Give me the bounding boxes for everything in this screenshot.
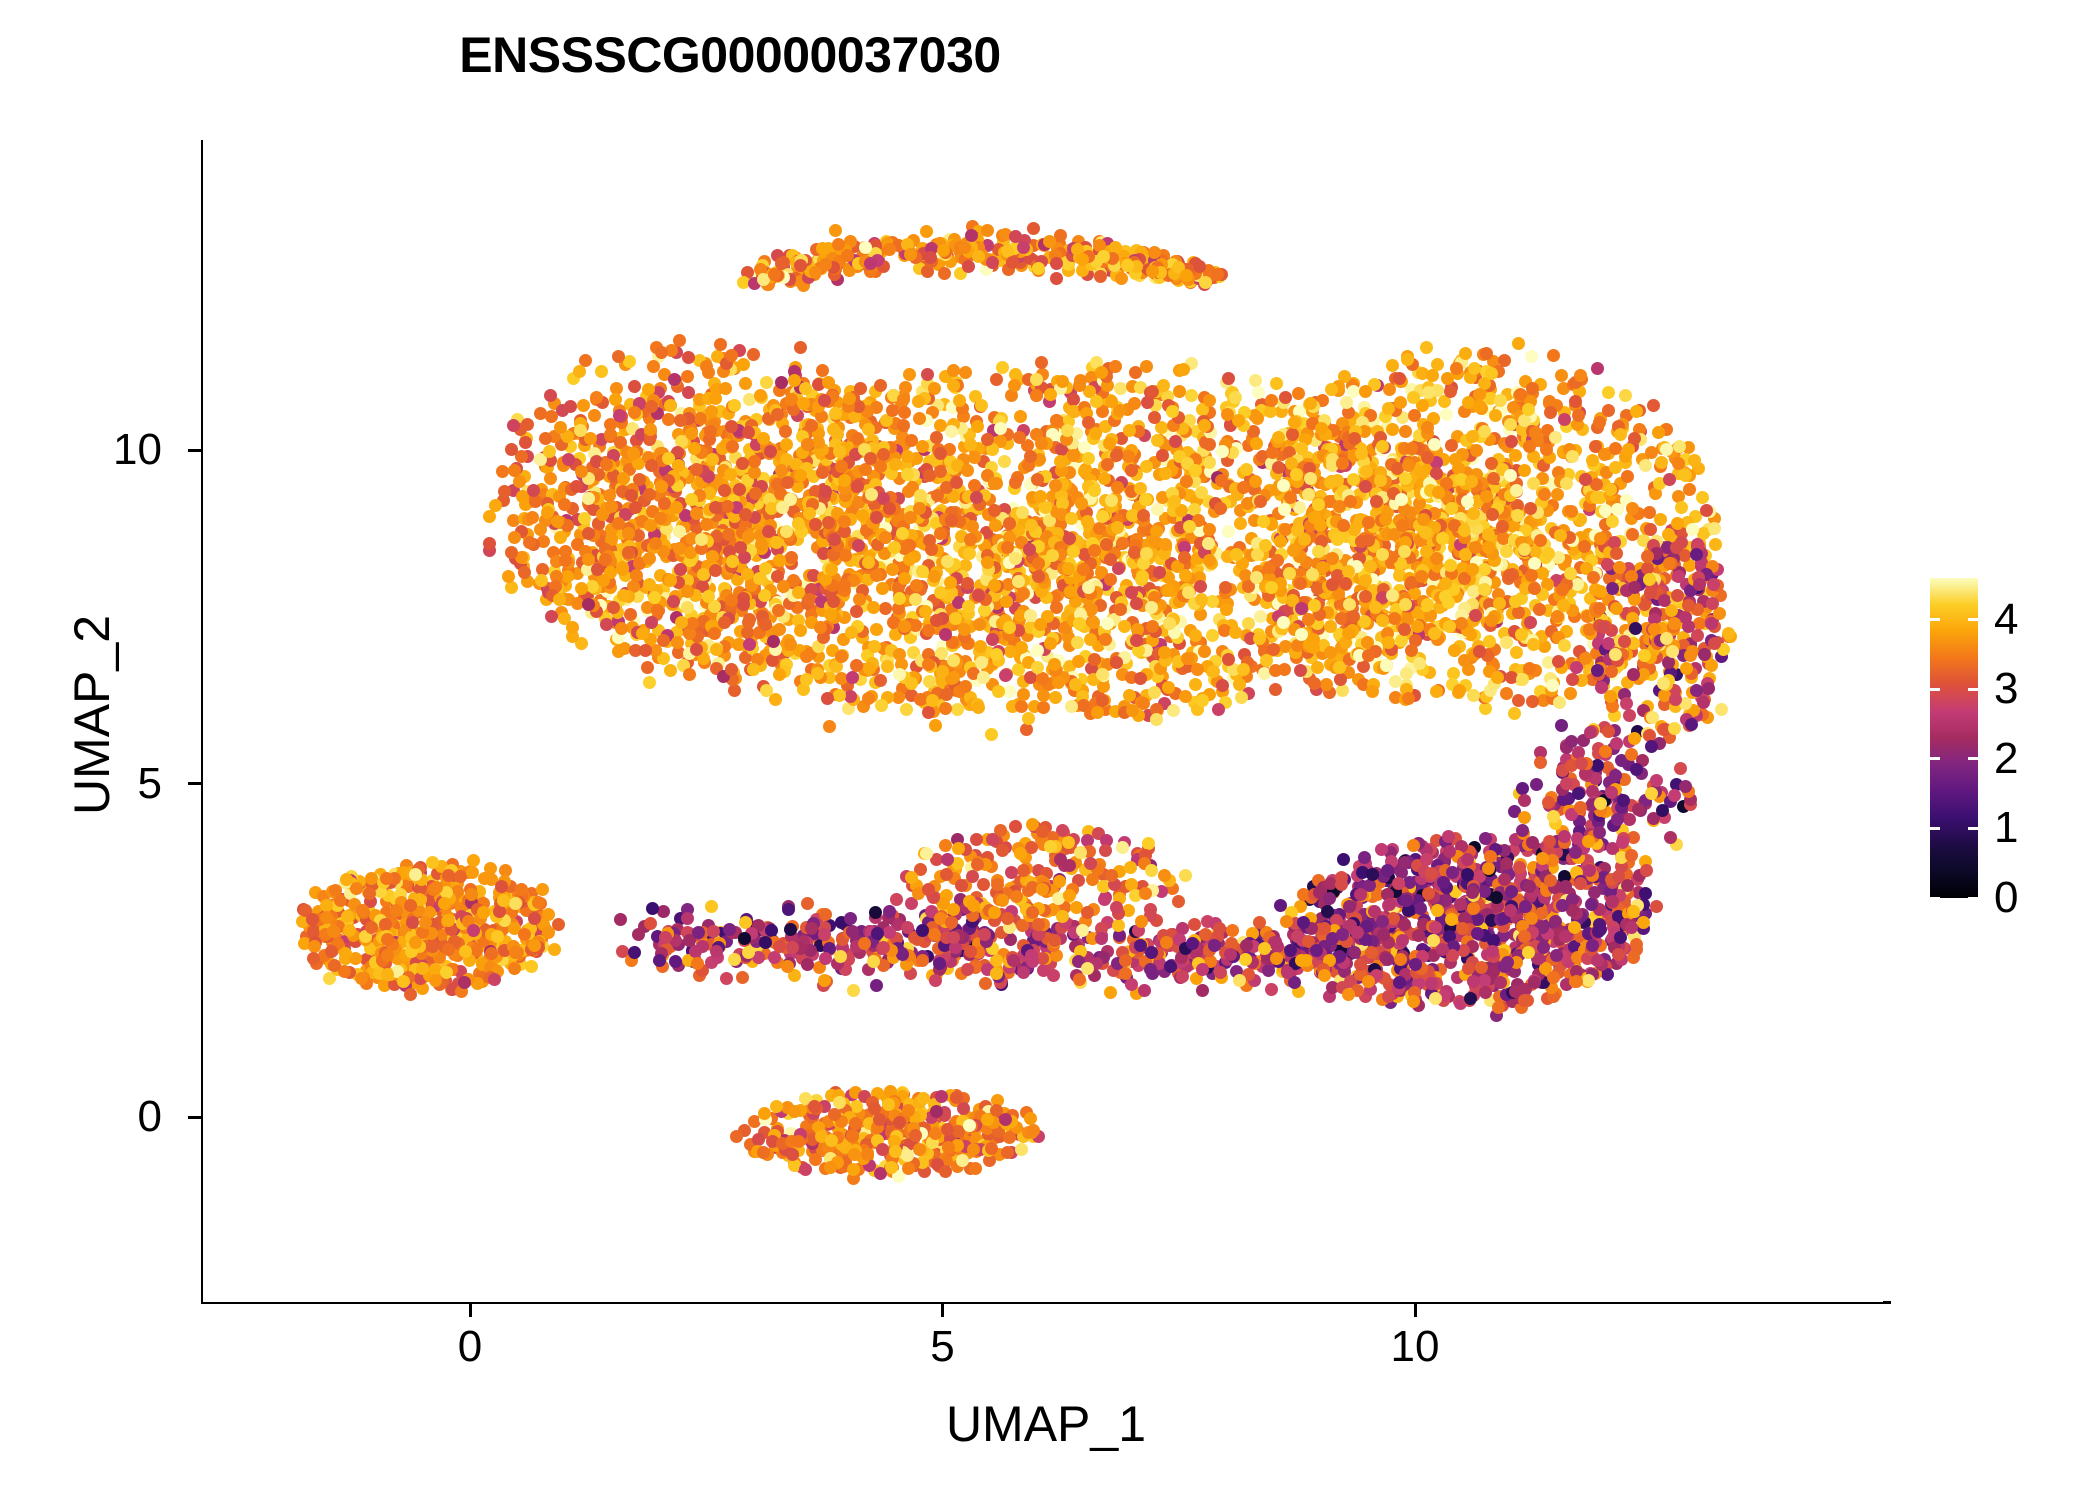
scatter-point: [726, 555, 739, 568]
scatter-point: [1203, 456, 1216, 469]
scatter-point: [850, 605, 863, 618]
scatter-point: [865, 488, 878, 501]
scatter-point: [947, 671, 960, 684]
scatter-point: [1678, 468, 1691, 481]
scatter-point: [939, 628, 952, 641]
scatter-point: [1031, 661, 1044, 674]
scatter-point: [1512, 337, 1525, 350]
scatter-point: [695, 533, 708, 546]
scatter-point: [881, 660, 894, 673]
scatter-point: [947, 379, 960, 392]
page-title: ENSSSCG00000037030: [0, 26, 1460, 84]
scatter-point: [1388, 612, 1401, 625]
scatter-point: [1105, 395, 1118, 408]
scatter-point: [671, 636, 684, 649]
scatter-point: [1302, 613, 1315, 626]
scatter-point: [1269, 683, 1282, 696]
scatter-point: [823, 720, 836, 733]
scatter-point: [1104, 553, 1117, 566]
scatter-point: [554, 421, 567, 434]
scatter-point: [604, 428, 617, 441]
scatter-point: [939, 702, 952, 715]
scatter-point: [539, 432, 552, 445]
scatter-point: [1553, 696, 1566, 709]
scatter-point: [648, 591, 661, 604]
scatter-point: [1182, 586, 1195, 599]
scatter-point: [709, 564, 722, 577]
scatter-point: [508, 531, 521, 544]
scatter-point: [1569, 395, 1582, 408]
scatter-point: [835, 650, 848, 663]
scatter-point: [930, 431, 943, 444]
scatter-point: [941, 555, 954, 568]
scatter-point: [1000, 595, 1013, 608]
scatter-point: [743, 638, 756, 651]
scatter-point: [875, 699, 888, 712]
scatter-point: [1230, 548, 1243, 561]
scatter-point: [947, 364, 960, 377]
scatter-point: [870, 569, 883, 582]
scatter-point: [920, 225, 933, 238]
scatter-point: [1498, 354, 1511, 367]
scatter-point: [725, 420, 738, 433]
scatter-point: [718, 484, 731, 497]
scatter-point: [1088, 653, 1101, 666]
scatter-point: [870, 623, 883, 636]
scatter-point: [992, 685, 1005, 698]
scatter-point: [898, 572, 911, 585]
scatter-point: [673, 525, 686, 538]
scatter-point: [1110, 449, 1123, 462]
scatter-point: [1054, 455, 1067, 468]
scatter-point: [780, 438, 793, 451]
scatter-point: [950, 476, 963, 489]
scatter-point: [886, 563, 899, 576]
scatter-point: [824, 608, 837, 621]
scatter-point: [1064, 585, 1077, 598]
scatter-point: [1071, 636, 1084, 649]
scatter-point: [706, 550, 719, 563]
scatter-point: [760, 376, 773, 389]
scatter-point: [1394, 396, 1407, 409]
scatter-point: [1277, 616, 1290, 629]
scatter-point: [1180, 269, 1193, 282]
scatter-point: [1179, 690, 1192, 703]
scatter-point: [1044, 637, 1057, 650]
scatter-point: [1222, 653, 1235, 666]
scatter-point: [1069, 678, 1082, 691]
scatter-point: [1189, 678, 1202, 691]
scatter-point: [489, 499, 502, 512]
scatter-point: [1478, 583, 1491, 596]
scatter-point: [1324, 620, 1337, 633]
scatter-point: [636, 627, 649, 640]
scatter-point: [562, 453, 575, 466]
scatter-point: [1444, 385, 1457, 398]
scatter-point: [1647, 399, 1660, 412]
scatter-point: [1141, 396, 1154, 409]
scatter-point: [1386, 359, 1399, 372]
scatter-point: [551, 515, 564, 528]
scatter-point: [863, 662, 876, 675]
scatter-point: [582, 598, 595, 611]
scatter-point: [1494, 394, 1507, 407]
scatter-point: [1253, 632, 1266, 645]
scatter-point: [785, 551, 798, 564]
scatter-point: [1181, 652, 1194, 665]
scatter-point: [1032, 570, 1045, 583]
scatter-point: [622, 527, 635, 540]
scatter-point: [1407, 391, 1420, 404]
scatter-point: [981, 556, 994, 569]
scatter-point: [962, 600, 975, 613]
scatter-point: [904, 248, 917, 261]
scatter-point: [1207, 665, 1220, 678]
scatter-point: [577, 399, 590, 412]
scatter-point: [856, 509, 869, 522]
scatter-point: [1237, 481, 1250, 494]
scatter-point: [879, 602, 892, 615]
scatter-point: [1278, 503, 1291, 516]
scatter-point: [690, 643, 703, 656]
scatter-point: [800, 650, 813, 663]
scatter-point: [801, 438, 814, 451]
scatter-point: [825, 563, 838, 576]
scatter-point: [483, 510, 496, 523]
scatter-point: [662, 413, 675, 426]
scatter-point: [1325, 383, 1338, 396]
scatter-point: [641, 661, 654, 674]
scatter-point: [736, 457, 749, 470]
scatter-point: [1250, 437, 1263, 450]
scatter-point: [1020, 723, 1033, 736]
scatter-point: [1050, 257, 1063, 270]
scatter-point: [794, 259, 807, 272]
scatter-point: [990, 373, 1003, 386]
scatter-point: [1312, 498, 1325, 511]
scatter-point: [600, 618, 613, 631]
scatter-point: [1254, 610, 1267, 623]
scatter-point: [742, 616, 755, 629]
scatter-point: [1156, 449, 1169, 462]
scatter-point: [1292, 387, 1305, 400]
scatter-point: [1008, 379, 1021, 392]
scatter-point: [1014, 410, 1027, 423]
scatter-point: [588, 409, 601, 422]
scatter-point: [1105, 494, 1118, 507]
scatter-point: [644, 519, 657, 532]
scatter-point: [916, 440, 929, 453]
scatter-point: [1445, 502, 1458, 515]
scatter-point: [893, 592, 906, 605]
scatter-point: [1167, 704, 1180, 717]
scatter-point: [1645, 446, 1658, 459]
scatter-point: [1163, 617, 1176, 630]
scatter-point: [1264, 405, 1277, 418]
scatter-point: [1269, 664, 1282, 677]
scatter-point: [1153, 566, 1166, 579]
scatter-point: [1510, 646, 1523, 659]
scatter-point: [655, 480, 668, 493]
scatter-point: [1216, 445, 1229, 458]
scatter-point: [609, 393, 622, 406]
scatter-point: [681, 601, 694, 614]
scatter-point: [897, 393, 910, 406]
scatter-point: [809, 518, 822, 531]
scatter-point: [1097, 250, 1110, 263]
scatter-point: [1270, 377, 1283, 390]
scatter-point: [1017, 587, 1030, 600]
scatter-point: [513, 475, 526, 488]
scatter-point: [670, 501, 683, 514]
scatter-point: [728, 399, 741, 412]
scatter-point: [851, 432, 864, 445]
scatter-point: [773, 623, 786, 636]
scatter-point: [1111, 481, 1124, 494]
scatter-point: [755, 538, 768, 551]
scatter-point: [575, 465, 588, 478]
scatter-point: [722, 528, 735, 541]
scatter-point: [702, 366, 715, 379]
scatter-point: [1304, 472, 1317, 485]
scatter-point: [1096, 694, 1109, 707]
scatter-point: [545, 610, 558, 623]
scatter-point: [508, 464, 521, 477]
scatter-point: [1088, 484, 1101, 497]
scatter-point: [1221, 408, 1234, 421]
scatter-point: [505, 546, 518, 559]
scatter-point: [1602, 386, 1615, 399]
scatter-point: [1654, 513, 1667, 526]
scatter-point: [759, 618, 772, 631]
scatter-point: [739, 508, 752, 521]
scatter-point: [1090, 395, 1103, 408]
scatter-point: [1566, 450, 1579, 463]
scatter-point: [962, 260, 975, 273]
scatter-point: [649, 537, 662, 550]
scatter-point: [1315, 422, 1328, 435]
scatter-point: [564, 400, 577, 413]
scatter-point: [1564, 687, 1577, 700]
scatter-point: [953, 394, 966, 407]
scatter-point: [545, 410, 558, 423]
scatter-point: [1379, 513, 1392, 526]
scatter-point: [1115, 272, 1128, 285]
scatter-point: [1609, 461, 1622, 474]
scatter-point: [1193, 260, 1206, 273]
scatter-point: [910, 579, 923, 592]
scatter-point: [645, 400, 658, 413]
scatter-point: [1073, 617, 1086, 630]
scatter-point: [1056, 375, 1069, 388]
scatter-point: [1077, 699, 1090, 712]
scatter-point: [561, 570, 574, 583]
scatter-point: [879, 531, 892, 544]
scatter-point: [988, 579, 1001, 592]
scatter-point: [1082, 581, 1095, 594]
scatter-point: [599, 553, 612, 566]
scatter-point: [1366, 685, 1379, 698]
scatter-point: [612, 645, 625, 658]
scatter-point: [864, 452, 877, 465]
scatter-point: [748, 455, 761, 468]
scatter-point: [553, 593, 566, 606]
scatter-point: [828, 533, 841, 546]
scatter-point: [708, 627, 721, 640]
scatter-point: [874, 674, 887, 687]
scatter-point: [934, 527, 947, 540]
scatter-point: [705, 405, 718, 418]
scatter-point: [986, 633, 999, 646]
scatter-point: [747, 348, 760, 361]
scatter-point: [1252, 386, 1265, 399]
scatter-point: [923, 675, 936, 688]
scatter-point: [996, 361, 1009, 374]
scatter-point: [903, 368, 916, 381]
scatter-point: [664, 574, 677, 587]
scatter-point: [1072, 655, 1085, 668]
scatter-point: [1639, 459, 1652, 472]
scatter-point: [1125, 464, 1138, 477]
scatter-point: [1074, 374, 1087, 387]
scatter-point: [794, 469, 807, 482]
scatter-point: [1294, 577, 1307, 590]
scatter-point: [1485, 367, 1498, 380]
scatter-point: [938, 267, 951, 280]
scatter-point: [683, 668, 696, 681]
scatter-point: [773, 554, 786, 567]
scatter-point: [1114, 603, 1127, 616]
scatter-point: [1220, 603, 1233, 616]
scatter-point: [776, 501, 789, 514]
scatter-point: [682, 351, 695, 364]
scatter-point: [595, 365, 608, 378]
scatter-point: [1212, 703, 1225, 716]
scatter-point: [850, 659, 863, 672]
scatter-point: [1534, 534, 1547, 547]
scatter-point: [870, 511, 883, 524]
scatter-point: [737, 598, 750, 611]
scatter-point: [924, 251, 937, 264]
scatter-point: [794, 341, 807, 354]
scatter-point: [1708, 522, 1721, 535]
scatter-point: [779, 425, 792, 438]
scatter-point: [1110, 656, 1123, 669]
scatter-point: [1401, 353, 1414, 366]
scatter-point: [1533, 603, 1546, 616]
scatter-point: [1420, 341, 1433, 354]
scatter-point: [1598, 448, 1611, 461]
scatter-point: [496, 465, 509, 478]
scatter-point: [1279, 523, 1292, 536]
scatter-point: [590, 391, 603, 404]
scatter-point: [1500, 545, 1513, 558]
scatter-point: [1509, 595, 1522, 608]
scatter-point: [1302, 488, 1315, 501]
scatter-point: [928, 382, 941, 395]
scatter-point: [1198, 419, 1211, 432]
scatter-point: [1249, 475, 1262, 488]
scatter-point: [667, 595, 680, 608]
scatter-point: [1422, 386, 1435, 399]
scatter-point: [1027, 222, 1040, 235]
scatter-point: [726, 440, 739, 453]
scatter-point: [639, 644, 652, 657]
scatter-point: [1136, 570, 1149, 583]
scatter-point: [958, 241, 971, 254]
scatter-point: [1219, 581, 1232, 594]
scatter-point: [1195, 593, 1208, 606]
scatter-point: [1037, 689, 1050, 702]
scatter-point: [1065, 700, 1078, 713]
scatter-point: [1229, 391, 1242, 404]
scatter-point: [534, 523, 547, 536]
scatter-point: [1415, 570, 1428, 583]
scatter-point: [1168, 495, 1181, 508]
scatter-point: [1551, 488, 1564, 501]
scatter-points-layer: [203, 140, 1883, 1302]
scatter-point: [1233, 678, 1246, 691]
scatter-point: [1023, 543, 1036, 556]
scatter-point: [690, 463, 703, 476]
scatter-point: [1359, 574, 1372, 587]
scatter-point: [1130, 634, 1143, 647]
scatter-point: [1122, 450, 1135, 463]
scatter-point: [951, 703, 964, 716]
scatter-point: [1254, 495, 1267, 508]
scatter-point: [1140, 460, 1153, 473]
scatter-point: [909, 593, 922, 606]
scatter-point: [760, 684, 773, 697]
scatter-point: [1035, 356, 1048, 369]
scatter-point: [867, 601, 880, 614]
scatter-point: [1229, 626, 1242, 639]
scatter-point: [897, 419, 910, 432]
scatter-point: [1203, 523, 1216, 536]
scatter-point: [747, 663, 760, 676]
scatter-point: [1343, 598, 1356, 611]
scatter-point: [725, 663, 738, 676]
scatter-point: [816, 466, 829, 479]
scatter-point: [1290, 468, 1303, 481]
scatter-point: [754, 389, 767, 402]
scatter-point: [1274, 535, 1287, 548]
scatter-point: [643, 676, 656, 689]
scatter-point: [1024, 450, 1037, 463]
scatter-point: [1421, 598, 1434, 611]
scatter-point: [963, 547, 976, 560]
scatter-point: [784, 638, 797, 651]
scatter-point: [940, 688, 953, 701]
scatter-point: [1549, 431, 1562, 444]
scatter-point: [1017, 688, 1030, 701]
scatter-point: [1237, 663, 1250, 676]
scatter-point: [1370, 495, 1383, 508]
scatter-point: [961, 577, 974, 590]
scatter-point: [821, 692, 834, 705]
scatter-point: [1383, 383, 1396, 396]
scatter-point: [1189, 629, 1202, 642]
scatter-point: [1240, 463, 1253, 476]
scatter-point: [896, 527, 909, 540]
scatter-point: [1032, 557, 1045, 570]
scatter-point: [1003, 685, 1016, 698]
scatter-point: [1287, 544, 1300, 557]
scatter-point: [1088, 544, 1101, 557]
scatter-point: [966, 520, 979, 533]
scatter-point: [1399, 598, 1412, 611]
scatter-point: [1077, 563, 1090, 576]
